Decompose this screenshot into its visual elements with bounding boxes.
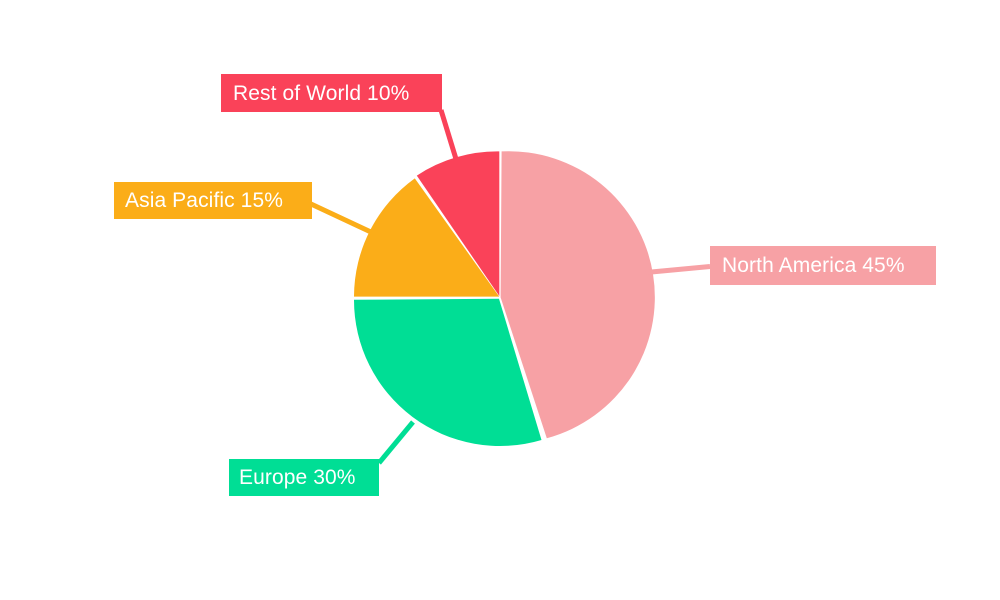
pie-label-rest-of-world-text: Rest of World 10% (233, 83, 409, 104)
pie-label-asia-pacific-text: Asia Pacific 15% (125, 190, 283, 211)
pie-label-asia-pacific[interactable]: Asia Pacific 15% (114, 182, 312, 219)
pie-label-europe-text: Europe 30% (239, 467, 356, 488)
chart-background (0, 0, 1000, 600)
pie-label-north-america-text: North America 45% (722, 255, 905, 276)
pie-label-europe[interactable]: Europe 30% (229, 459, 379, 496)
pie-label-north-america[interactable]: North America 45% (710, 246, 936, 285)
pie-label-rest-of-world[interactable]: Rest of World 10% (221, 74, 442, 112)
pie-chart-figure: Rest of World 10% Asia Pacific 15% North… (0, 0, 1000, 600)
pie-chart-canvas (0, 0, 1000, 600)
